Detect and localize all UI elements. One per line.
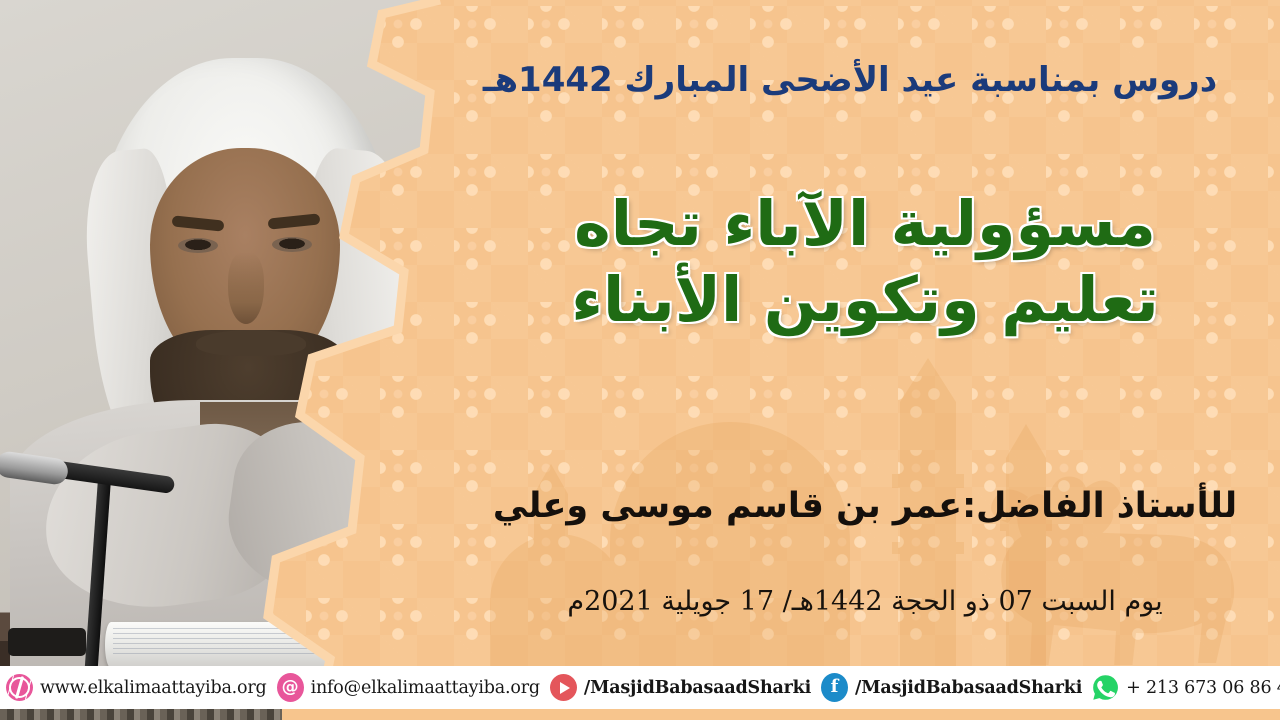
title-line-2: تعليم وتكوين الأبناء bbox=[470, 262, 1260, 338]
website-label: www.elkalimaattayiba.org bbox=[40, 678, 267, 698]
eid-lecture-poster: دروس بمناسبة عيد الأضحى المبارك 1442هـ م… bbox=[0, 0, 1280, 720]
contact-facebook[interactable]: f /MasjidBabasaadSharki bbox=[821, 673, 1082, 702]
eye-right bbox=[272, 237, 312, 252]
event-date-text: يوم السبت 07 ذو الحجة 1442هـ/ 17 جويلية … bbox=[470, 586, 1260, 617]
youtube-icon bbox=[550, 674, 577, 701]
contact-footer-bar: www.elkalimaattayiba.org @ info@elkalima… bbox=[0, 666, 1280, 709]
contact-website[interactable]: www.elkalimaattayiba.org bbox=[6, 674, 267, 701]
page-header-text: دروس بمناسبة عيد الأضحى المبارك 1442هـ bbox=[430, 52, 1270, 108]
contact-whatsapp[interactable]: + 213 673 06 86 43 bbox=[1092, 674, 1280, 701]
dark-object bbox=[8, 628, 86, 656]
facebook-label: /MasjidBabasaadSharki bbox=[855, 678, 1082, 698]
moustache bbox=[196, 330, 306, 356]
youtube-label: /MasjidBabasaadSharki bbox=[584, 678, 811, 698]
contact-email[interactable]: @ info@elkalimaattayiba.org bbox=[277, 673, 540, 702]
nose bbox=[228, 252, 264, 324]
eye-left bbox=[178, 238, 218, 253]
facebook-icon: f bbox=[821, 673, 848, 702]
contact-youtube[interactable]: /MasjidBabasaadSharki bbox=[550, 674, 811, 701]
globe-icon bbox=[6, 674, 33, 701]
at-icon: @ bbox=[277, 673, 304, 702]
title-line-1: مسؤولية الآباء تجاه bbox=[470, 186, 1260, 262]
speaker-name-text: للأستاذ الفاضل:عمر بن قاسم موسى وعلي bbox=[470, 486, 1260, 526]
whatsapp-icon bbox=[1092, 674, 1119, 701]
whatsapp-label: + 213 673 06 86 43 bbox=[1126, 678, 1280, 698]
page-title: مسؤولية الآباء تجاه تعليم وتكوين الأبناء bbox=[470, 186, 1260, 337]
email-label: info@elkalimaattayiba.org bbox=[311, 678, 540, 698]
bottom-image-strip bbox=[0, 709, 1280, 720]
carpet-strip bbox=[0, 709, 282, 720]
